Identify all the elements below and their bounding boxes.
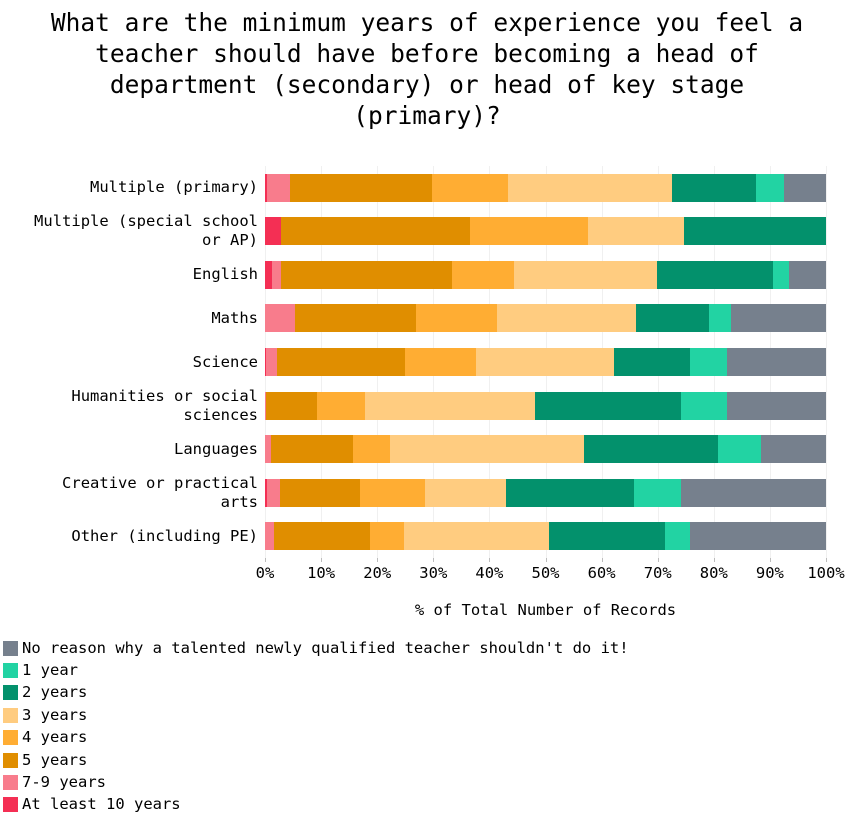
legend-swatch-icon: [3, 708, 18, 723]
bar-row[interactable]: [265, 392, 826, 420]
bar-segment[interactable]: [773, 261, 789, 289]
bar-segment[interactable]: [265, 304, 295, 332]
x-axis-tick: [265, 558, 266, 562]
x-axis-tick: [377, 558, 378, 562]
x-axis-tick: [602, 558, 603, 562]
x-axis-tick: [489, 558, 490, 562]
bar-row[interactable]: [265, 217, 826, 245]
bar-segment[interactable]: [267, 479, 280, 507]
legend-swatch-icon: [3, 685, 18, 700]
chart-legend: No reason why a talented newly qualified…: [3, 637, 851, 816]
x-axis-tick-label: 30%: [419, 564, 447, 582]
y-axis-label: English: [8, 265, 258, 284]
bar-segment[interactable]: [290, 174, 432, 202]
gridline: [826, 166, 827, 558]
bar-segment[interactable]: [317, 392, 365, 420]
bar-segment[interactable]: [353, 435, 390, 463]
bar-segment[interactable]: [684, 217, 826, 245]
bar-row[interactable]: [265, 304, 826, 332]
bar-segment[interactable]: [281, 261, 453, 289]
bar-segment[interactable]: [271, 435, 353, 463]
chart-title: What are the minimum years of experience…: [0, 0, 854, 131]
x-axis-tick: [826, 558, 827, 562]
bar-segment[interactable]: [727, 348, 826, 376]
x-axis-tick-label: 70%: [644, 564, 672, 582]
bar-segment[interactable]: [497, 304, 636, 332]
x-axis-tick-label: 100%: [807, 564, 844, 582]
bar-segment[interactable]: [416, 304, 496, 332]
y-axis-label: Humanities or social sciences: [8, 387, 258, 425]
x-axis-tick: [714, 558, 715, 562]
bar-segment[interactable]: [756, 174, 784, 202]
bar-segment[interactable]: [508, 174, 672, 202]
bar-row[interactable]: [265, 479, 826, 507]
bar-segment[interactable]: [672, 174, 756, 202]
bar-row[interactable]: [265, 174, 826, 202]
x-axis-tick: [546, 558, 547, 562]
y-axis-label: Languages: [8, 440, 258, 459]
x-axis: 0%10%20%30%40%50%60%70%80%90%100%: [265, 558, 826, 588]
bar-row[interactable]: [265, 435, 826, 463]
bar-segment[interactable]: [265, 217, 281, 245]
x-axis-title: % of Total Number of Records: [265, 601, 826, 620]
bar-segment[interactable]: [614, 348, 690, 376]
legend-item[interactable]: 5 years: [3, 749, 851, 771]
bar-segment[interactable]: [452, 261, 514, 289]
x-axis-tick: [658, 558, 659, 562]
legend-item[interactable]: 4 years: [3, 727, 851, 749]
x-axis-tick-label: 60%: [588, 564, 616, 582]
bar-segment[interactable]: [634, 479, 681, 507]
legend-swatch-icon: [3, 753, 18, 768]
bar-segment[interactable]: [272, 261, 281, 289]
legend-swatch-icon: [3, 663, 18, 678]
x-axis-tick-label: 0%: [256, 564, 275, 582]
y-axis-label: Multiple (primary): [8, 178, 258, 197]
bar-segment[interactable]: [636, 304, 709, 332]
bar-segment[interactable]: [657, 261, 774, 289]
bar-row[interactable]: [265, 261, 826, 289]
legend-label: 7-9 years: [22, 773, 106, 792]
bar-segment[interactable]: [789, 261, 826, 289]
x-axis-tick-label: 80%: [700, 564, 728, 582]
bar-segment[interactable]: [265, 522, 274, 550]
legend-label: At least 10 years: [22, 795, 181, 814]
bar-segment[interactable]: [404, 522, 550, 550]
bar-row[interactable]: [265, 348, 826, 376]
legend-item[interactable]: 3 years: [3, 704, 851, 726]
bar-row[interactable]: [265, 522, 826, 550]
bar-segment[interactable]: [506, 479, 634, 507]
legend-swatch-icon: [3, 641, 18, 656]
x-axis-tick: [321, 558, 322, 562]
bar-segment[interactable]: [584, 435, 718, 463]
bar-segment[interactable]: [274, 522, 370, 550]
bar-segment[interactable]: [365, 392, 535, 420]
bar-segment[interactable]: [470, 217, 588, 245]
bar-segment[interactable]: [267, 174, 289, 202]
bar-segment[interactable]: [425, 479, 506, 507]
bar-segment[interactable]: [281, 217, 470, 245]
bar-segment[interactable]: [405, 348, 476, 376]
bar-segment[interactable]: [360, 479, 425, 507]
bar-segment[interactable]: [681, 479, 826, 507]
bar-segment[interactable]: [761, 435, 826, 463]
x-axis-tick: [433, 558, 434, 562]
bar-segment[interactable]: [535, 392, 680, 420]
bar-segment[interactable]: [690, 522, 826, 550]
bar-segment[interactable]: [681, 392, 727, 420]
x-axis-tick-label: 50%: [532, 564, 560, 582]
legend-label: 4 years: [22, 728, 87, 747]
bar-segment[interactable]: [665, 522, 690, 550]
y-axis-label: Science: [8, 353, 258, 372]
legend-label: 1 year: [22, 661, 78, 680]
y-axis-label: Maths: [8, 309, 258, 328]
bar-segment[interactable]: [784, 174, 826, 202]
legend-label: 2 years: [22, 683, 87, 702]
x-axis-tick-label: 90%: [756, 564, 784, 582]
bar-segment[interactable]: [690, 348, 726, 376]
legend-item[interactable]: At least 10 years: [3, 794, 851, 816]
bar-segment[interactable]: [266, 348, 277, 376]
legend-label: 5 years: [22, 751, 87, 770]
legend-label: 3 years: [22, 706, 87, 725]
legend-swatch-icon: [3, 797, 18, 812]
bar-segment[interactable]: [265, 261, 272, 289]
legend-item[interactable]: 2 years: [3, 682, 851, 704]
legend-item[interactable]: No reason why a talented newly qualified…: [3, 637, 851, 659]
bar-segment[interactable]: [588, 217, 684, 245]
legend-item[interactable]: 1 year: [3, 659, 851, 681]
x-axis-tick: [770, 558, 771, 562]
x-axis-tick-label: 10%: [307, 564, 335, 582]
legend-swatch-icon: [3, 775, 18, 790]
bar-segment[interactable]: [709, 304, 730, 332]
bar-segment[interactable]: [277, 348, 405, 376]
bar-segment[interactable]: [514, 261, 656, 289]
bar-segment[interactable]: [390, 435, 584, 463]
legend-label: No reason why a talented newly qualified…: [22, 639, 629, 658]
bar-segment[interactable]: [280, 479, 360, 507]
y-axis-label: Other (including PE): [8, 527, 258, 546]
bar-segment[interactable]: [727, 392, 826, 420]
bar-segment[interactable]: [476, 348, 613, 376]
bar-segment[interactable]: [370, 522, 404, 550]
y-axis-label: Creative or practical arts: [8, 474, 258, 512]
legend-item[interactable]: 7-9 years: [3, 771, 851, 793]
y-axis-label: Multiple (special school or AP): [8, 212, 258, 250]
bar-segment[interactable]: [718, 435, 761, 463]
bar-segment[interactable]: [549, 522, 665, 550]
bar-segment[interactable]: [266, 392, 317, 420]
plot-area: [265, 166, 826, 558]
x-axis-tick-label: 40%: [475, 564, 503, 582]
legend-swatch-icon: [3, 730, 18, 745]
x-axis-tick-label: 20%: [363, 564, 391, 582]
bar-segment[interactable]: [295, 304, 417, 332]
bar-segment[interactable]: [731, 304, 826, 332]
y-axis: Multiple (primary)Multiple (special scho…: [0, 166, 258, 558]
bar-segment[interactable]: [432, 174, 508, 202]
